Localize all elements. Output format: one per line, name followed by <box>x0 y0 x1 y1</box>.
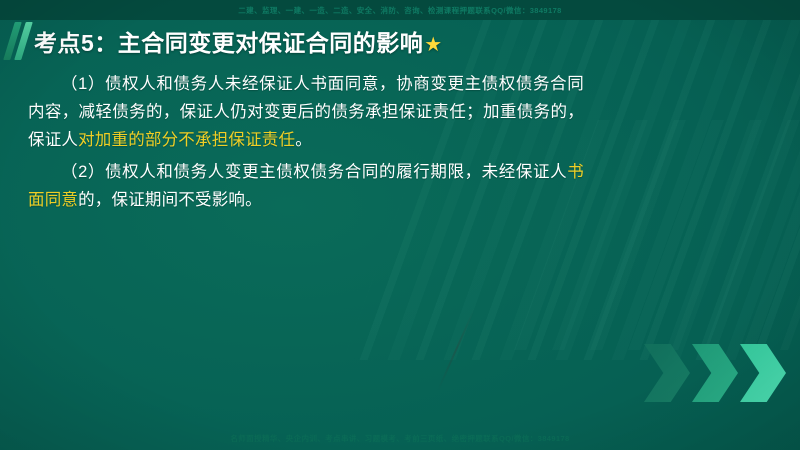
top-banner-text: 二建、监理、一建、一造、二造、安全、消防、咨询、检测课程押题联系QQ/微信：38… <box>238 5 561 16</box>
slide-body: （1）债权人和债务人未经保证人书面同意，协商变更主债权债务合同内容，减轻债务的，… <box>28 70 584 218</box>
top-banner: 二建、监理、一建、一造、二造、安全、消防、咨询、检测课程押题联系QQ/微信：38… <box>0 0 800 20</box>
paragraph-run-highlight: 对加重的部分不承担保证责任 <box>78 131 295 149</box>
star-icon: ★ <box>424 34 442 56</box>
chevron-right-icon <box>692 344 738 402</box>
bottom-banner-text: 名师面授精华、央企内训、考点串讲、习题模考、考前三页纸、绝密押题联系QQ/微信：… <box>230 434 569 443</box>
page-title-text: 考点5：主合同变更对保证合同的影响 <box>34 30 423 56</box>
bottom-banner: 名师面授精华、央企内训、考点串讲、习题模考、考前三页纸、绝密押题联系QQ/微信：… <box>0 428 800 446</box>
slide-title-row: 考点5：主合同变更对保证合同的影响★ <box>0 20 800 62</box>
body-paragraph: （2）债权人和债务人变更主债权债务合同的履行期限，未经保证人书面同意的，保证期间… <box>28 158 584 214</box>
paragraph-run: 。 <box>295 131 312 149</box>
chevron-arrows-decoration <box>644 344 786 402</box>
paragraph-run: 的，保证期间不受影响。 <box>78 191 262 209</box>
paragraph-run: （2）债权人和债务人变更主债权债务合同的履行期限，未经保证人 <box>61 163 567 181</box>
chevron-right-icon <box>644 344 690 402</box>
body-paragraph: （1）债权人和债务人未经保证人书面同意，协商变更主债权债务合同内容，减轻债务的，… <box>28 70 584 154</box>
chevron-right-icon <box>740 344 786 402</box>
title-accent-bars-icon <box>0 20 34 62</box>
page-title: 考点5：主合同变更对保证合同的影响★ <box>34 24 443 58</box>
presentation-slide: 二建、监理、一建、一造、二造、安全、消防、咨询、检测课程押题联系QQ/微信：38… <box>0 0 800 450</box>
